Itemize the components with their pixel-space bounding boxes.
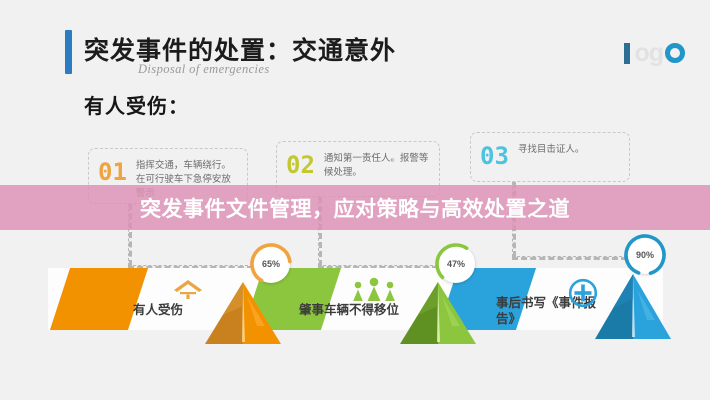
- step-card-3[interactable]: 03 寻找目击证人。: [470, 132, 630, 182]
- connector-3-horizontal: [512, 256, 627, 260]
- pyramid-2: [390, 282, 486, 350]
- progress-donut-2: 47%: [437, 245, 475, 283]
- progress-value-3: 90%: [636, 250, 654, 260]
- overlay-caption: 突发事件文件管理，应对策略与高效处置之道: [0, 185, 710, 230]
- pyramid-1: [195, 282, 291, 350]
- ribbon-segment-1: [50, 268, 148, 330]
- logo-ring-icon: [665, 43, 685, 63]
- progress-value-2: 47%: [447, 259, 465, 269]
- step-text-2: 通知第一责任人。报警等候处理。: [324, 149, 431, 180]
- logo: og: [624, 40, 685, 66]
- step-number-3: 03: [480, 144, 509, 168]
- logo-text: og: [634, 42, 663, 64]
- progress-value-1: 65%: [262, 259, 280, 269]
- step-number-2: 02: [286, 153, 315, 177]
- pyramid-3: [585, 274, 681, 345]
- section-heading: 有人受伤：: [84, 90, 189, 119]
- progress-donut-1: 65%: [252, 245, 290, 283]
- step-number-1: 01: [98, 160, 127, 184]
- infographic-slide: 突发事件的处置：交通意外 Disposal of emergencies og …: [0, 0, 710, 400]
- progress-donut-3: 90%: [626, 236, 664, 274]
- title-accent-bar: [65, 30, 72, 74]
- logo-bar-icon: [624, 43, 630, 64]
- page-subtitle-en: Disposal of emergencies: [138, 62, 270, 77]
- step-text-3: 寻找目击证人。: [518, 140, 585, 157]
